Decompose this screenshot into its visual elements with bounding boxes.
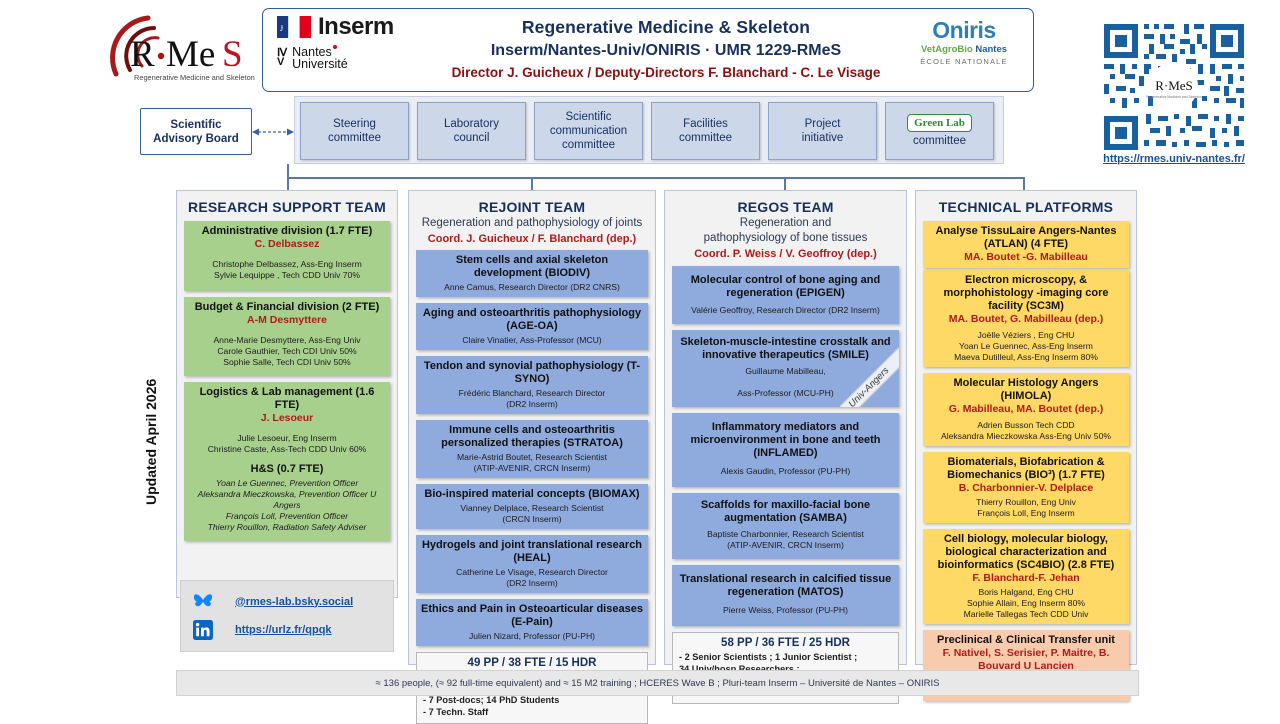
connector-horizontal (287, 177, 1025, 179)
card-people: Julien Nizard, Professor (PU-PH) (421, 631, 643, 642)
committee-sci-l1: Scientific (565, 110, 611, 124)
connector-drop-rst (287, 177, 289, 190)
inserm-dot (333, 45, 337, 49)
card-people: Marie-Astrid Boutet, Research Scientist … (421, 452, 643, 474)
card-title: Immune cells and osteoarthritis personal… (421, 424, 643, 450)
card-people: Joëlle Véziers , Eng CHU Yoan Le Guennec… (928, 330, 1124, 363)
green-lab-icon: Green Lab (907, 114, 972, 132)
footer-text: ≈ 136 people, (≈ 92 full-time equivalent… (376, 678, 940, 689)
nantes-mark-icon: ⅣV (277, 49, 287, 67)
committee-fac-l2: committee (679, 131, 732, 145)
card-title: Hydrogels and joint translational resear… (421, 539, 643, 565)
oniris-subline-1: VetAgroBio Nantes (905, 44, 1023, 55)
rejoint-stats-line: - 7 Techn. Staff (423, 707, 641, 719)
oniris-nantes: Nantes (973, 44, 1007, 55)
card-title: Translational research in calcified tiss… (677, 573, 894, 599)
committees-row: Steering committee Laboratory council Sc… (300, 102, 994, 160)
card-samba[interactable]: Scaffolds for maxillo-facial bone augmen… (672, 493, 899, 559)
rejoint-subtitle: Regeneration and pathophysiology of join… (409, 217, 655, 230)
rmes-logo: R Me S Regenerative Medicine and Skeleto… (104, 8, 264, 96)
card-lead: A-M Desmyttere (189, 314, 385, 327)
qr-center-label: R·MeS (1155, 78, 1193, 93)
connector-drop-rejoint (531, 177, 533, 190)
card-t-syno[interactable]: Tendon and synovial pathophysiology (T-S… (416, 356, 648, 414)
committee-steering[interactable]: Steering committee (300, 102, 409, 160)
butterfly-icon (193, 593, 213, 611)
committee-green-lab[interactable]: Green Lab committee (885, 102, 994, 160)
card-sc4bio[interactable]: Cell biology, molecular biology, biologi… (923, 529, 1129, 624)
card-atlan[interactable]: Analyse TissuLaire Angers-Nantes (ATLAN)… (923, 221, 1129, 268)
card-title: Cell biology, molecular biology, biologi… (928, 533, 1124, 572)
page-title: Regenerative Medicine & Skeleton (441, 17, 891, 38)
regos-stats-line: - 2 Senior Scientists ; 1 Junior Scienti… (679, 652, 892, 664)
card-people: Christophe Delbassez, Ass-Eng Inserm Syl… (189, 259, 385, 281)
card-heal[interactable]: Hydrogels and joint translational resear… (416, 535, 648, 593)
column-rejoint-team: REJOINT TEAM Regeneration and pathophysi… (408, 190, 656, 665)
card-people: Catherine Le Visage, Research Director (… (421, 567, 643, 589)
svg-text:Ɉ: Ɉ (280, 24, 283, 33)
sab-line-2: Advisory Board (153, 132, 239, 146)
card-people: Guillaume Mabilleau, Ass-Professor (MCU-… (677, 366, 894, 399)
svg-text:S: S (222, 34, 243, 75)
card-people: Anne Camus, Research Director (DR2 CNRS) (421, 282, 643, 293)
rejoint-title: REJOINT TEAM (409, 191, 655, 215)
oniris-subline-2: ÉCOLE NATIONALE (905, 57, 1023, 66)
card-people: Vianney Delplace, Research Scientist (CR… (421, 503, 643, 525)
committee-fac-l1: Facilities (683, 117, 728, 131)
committee-lab-l2: council (454, 131, 490, 145)
card-people: Adrien Busson Tech CDD Aleksandra Mieczk… (928, 420, 1124, 442)
card-administrative-division[interactable]: Administrative division (1.7 FTE) C. Del… (184, 221, 390, 291)
card-title: Scaffolds for maxillo-facial bone augmen… (677, 499, 894, 525)
french-flag-icon: Ɉ (277, 16, 311, 38)
card-title: Aging and osteoarthritis pathophysiology… (421, 307, 643, 333)
bidirectional-arrow-icon (252, 126, 294, 138)
oniris-logo: Oniris VetAgroBio Nantes ÉCOLE NATIONALE (905, 19, 1023, 66)
rmes-logo-tagline: Regenerative Medicine and Skeleton (134, 73, 255, 82)
card-e-pain[interactable]: Ethics and Pain in Osteoarticular diseas… (416, 599, 648, 646)
svg-text:Regenerative Medicine and Skel: Regenerative Medicine and Skeleton (1146, 95, 1202, 99)
rejoint-stats-head: 49 PP / 38 FTE / 15 HDR (423, 657, 641, 669)
card-people: Pierre Weiss, Professor (PU-PH) (677, 605, 894, 616)
card-matos[interactable]: Translational research in calcified tiss… (672, 565, 899, 626)
card-bio3[interactable]: Biomaterials, Biofabrication & Biomechan… (923, 452, 1129, 523)
card-people: Anne-Marie Desmyttere, Ass-Eng Univ Caro… (189, 335, 385, 368)
card-people: Alexis Gaudin, Professor (PU-PH) (677, 466, 894, 477)
card-title: Electron microscopy, & morphohistology -… (928, 274, 1124, 313)
bluesky-link[interactable]: @rmes-lab.bsky.social (235, 596, 353, 608)
card-people: Baptiste Charbonnier, Research Scientist… (677, 529, 894, 551)
card-inflamed[interactable]: Inflammatory mediators and microenvironm… (672, 413, 899, 487)
card-himola[interactable]: Molecular Histology Angers (HIMOLA) G. M… (923, 373, 1129, 446)
connector-drop-tp (1023, 177, 1025, 190)
rejoint-stats-line: - 7 Post-docs; 14 PhD Students (423, 695, 641, 707)
committee-laboratory-council[interactable]: Laboratory council (417, 102, 526, 160)
card-lead: J. Lesoeur (189, 412, 385, 425)
card-people: Boris Halgand, Eng CHU Sophie Allain, En… (928, 587, 1124, 620)
card-lead: MA. Boutet, G. Mabilleau (dep.) (928, 313, 1124, 326)
rst-title: RESEARCH SUPPORT TEAM (177, 191, 397, 215)
card-biodiv[interactable]: Stem cells and axial skeleton developmen… (416, 250, 648, 297)
card-title: Inflammatory mediators and microenvironm… (677, 421, 894, 460)
card-people: Thierry Rouillon, Eng Univ François Loll… (928, 497, 1124, 519)
committee-lab-l1: Laboratory (444, 117, 499, 131)
committee-project-initiative[interactable]: Project initiative (768, 102, 877, 160)
column-regos-team: REGOS TEAM Regeneration and pathophysiol… (664, 190, 907, 665)
card-title: Ethics and Pain in Osteoarticular diseas… (421, 603, 643, 629)
nantes-line-2: Université (292, 58, 348, 70)
card-title: Tendon and synovial pathophysiology (T-S… (421, 360, 643, 386)
regos-title: REGOS TEAM (665, 191, 906, 215)
scientific-advisory-board[interactable]: Scientific Advisory Board (140, 108, 252, 155)
social-row-bluesky: @rmes-lab.bsky.social (193, 593, 393, 611)
card-title: Molecular control of bone aging and rege… (677, 274, 894, 300)
card-smile[interactable]: Skeleton-muscle-intestine crosstalk and … (672, 330, 899, 407)
regos-subtitle-1: Regeneration and (665, 217, 906, 230)
card-title: Administrative division (1.7 FTE) (189, 225, 385, 238)
column-research-support-team: RESEARCH SUPPORT TEAM Administrative div… (176, 190, 398, 598)
updated-label: Updated April 2026 (143, 379, 159, 505)
card-lead: MA. Boutet -G. Mabilleau (928, 251, 1124, 264)
card-sub-people: Yoan Le Guennec, Prevention Officer Alek… (189, 478, 385, 533)
regos-coordinators: Coord. P. Weiss / V. Geoffroy (dep.) (665, 248, 906, 260)
committee-proj-l1: Project (805, 117, 841, 131)
rmes-website-link[interactable]: https://rmes.univ-nantes.fr/ (1088, 153, 1260, 165)
card-lead: F. Blanchard-F. Jehan (928, 572, 1124, 585)
social-row-linkedin: https://urlz.fr/qpqk (193, 620, 393, 640)
card-biomax[interactable]: Bio-inspired material concepts (BIOMAX) … (416, 484, 648, 529)
connector-trunk (287, 164, 289, 178)
card-title: Budget & Financial division (2 FTE) (189, 301, 385, 314)
header-titles: Regenerative Medicine & Skeleton Inserm/… (441, 17, 891, 80)
card-stratoa[interactable]: Immune cells and osteoarthritis personal… (416, 420, 648, 478)
committee-proj-l2: initiative (802, 131, 844, 145)
card-title: Stem cells and axial skeleton developmen… (421, 254, 643, 280)
card-title: Bio-inspired material concepts (BIOMAX) (421, 488, 643, 501)
tp-title: TECHNICAL PLATFORMS (916, 191, 1136, 215)
linkedin-icon (193, 620, 213, 640)
linkedin-link[interactable]: https://urlz.fr/qpqk (235, 624, 332, 636)
social-links-box: @rmes-lab.bsky.social https://urlz.fr/qp… (180, 580, 394, 652)
card-sc3m[interactable]: Electron microscopy, & morphohistology -… (923, 270, 1129, 367)
card-budget-financial-division[interactable]: Budget & Financial division (2 FTE) A-M … (184, 297, 390, 376)
card-title: Skeleton-muscle-intestine crosstalk and … (677, 336, 894, 362)
inserm-wordmark: Inserm (318, 15, 394, 39)
card-people: Claire Vinatier, Ass-Professor (MCU) (421, 335, 643, 346)
header-banner: Ɉ Inserm ⅣV Nantes Université Regenerati… (262, 8, 1034, 92)
card-sub-title: H&S (0.7 FTE) (189, 463, 385, 476)
card-people: Julie Lesoeur, Eng Inserm Christine Cast… (189, 433, 385, 455)
oniris-vetagrobio: VetAgroBio (921, 44, 973, 55)
card-title: Analyse TissuLaire Angers-Nantes (ATLAN)… (928, 225, 1124, 251)
qr-code[interactable]: R·MeS Regenerative Medicine and Skeleton (1094, 18, 1254, 163)
card-age-oa[interactable]: Aging and osteoarthritis pathophysiology… (416, 303, 648, 350)
svg-text:Me: Me (166, 34, 215, 75)
card-epigen[interactable]: Molecular control of bone aging and rege… (672, 266, 899, 324)
directors-line: Director J. Guicheux / Deputy-Directors … (441, 65, 891, 80)
connector-drop-regos (784, 177, 786, 190)
card-lead: C. Delbassez (189, 238, 385, 251)
committee-sci-l2: communication (550, 124, 627, 138)
card-title: Logistics & Lab management (1.6 FTE) (189, 386, 385, 412)
regos-stats-head: 58 PP / 36 FTE / 25 HDR (679, 637, 892, 649)
card-people: Frédéric Blanchard, Research Director (D… (421, 388, 643, 410)
card-lead: G. Mabilleau, MA. Boutet (dep.) (928, 403, 1124, 416)
regos-subtitle-2: pathophysiology of bone tissues (665, 232, 906, 245)
committee-sci-l3: committee (562, 138, 615, 152)
card-people: Valérie Geoffroy, Research Director (DR2… (677, 305, 894, 316)
committee-steering-l2: committee (328, 131, 381, 145)
column-technical-platforms: TECHNICAL PLATFORMS Analyse TissuLaire A… (915, 190, 1137, 665)
oniris-wordmark: Oniris (905, 19, 1023, 42)
committee-steering-l1: Steering (333, 117, 376, 131)
org-chart-canvas: R Me S Regenerative Medicine and Skeleto… (0, 0, 1280, 720)
committee-green-l2: committee (913, 134, 966, 148)
rejoint-coordinators: Coord. J. Guicheux / F. Blanchard (dep.) (409, 233, 655, 245)
page-subtitle: Inserm/Nantes-Univ/ONIRIS · UMR 1229-RMe… (441, 42, 891, 60)
sab-line-1: Scientific (170, 118, 221, 132)
svg-text:R: R (130, 34, 155, 75)
inserm-logo: Ɉ Inserm ⅣV Nantes Université (277, 15, 437, 87)
card-logistics-lab-management[interactable]: Logistics & Lab management (1.6 FTE) J. … (184, 382, 390, 541)
committee-scientific-communication[interactable]: Scientific communication committee (534, 102, 643, 160)
footer-bar: ≈ 136 people, (≈ 92 full-time equivalent… (176, 670, 1139, 696)
nantes-universite-logo: ⅣV Nantes Université (277, 46, 437, 70)
card-title: Molecular Histology Angers (HIMOLA) (928, 377, 1124, 403)
card-title: Biomaterials, Biofabrication & Biomechan… (928, 456, 1124, 482)
card-title: Preclinical & Clinical Transfer unit (928, 634, 1124, 647)
card-lead: B. Charbonnier-V. Delplace (928, 482, 1124, 495)
committee-facilities[interactable]: Facilities committee (651, 102, 760, 160)
